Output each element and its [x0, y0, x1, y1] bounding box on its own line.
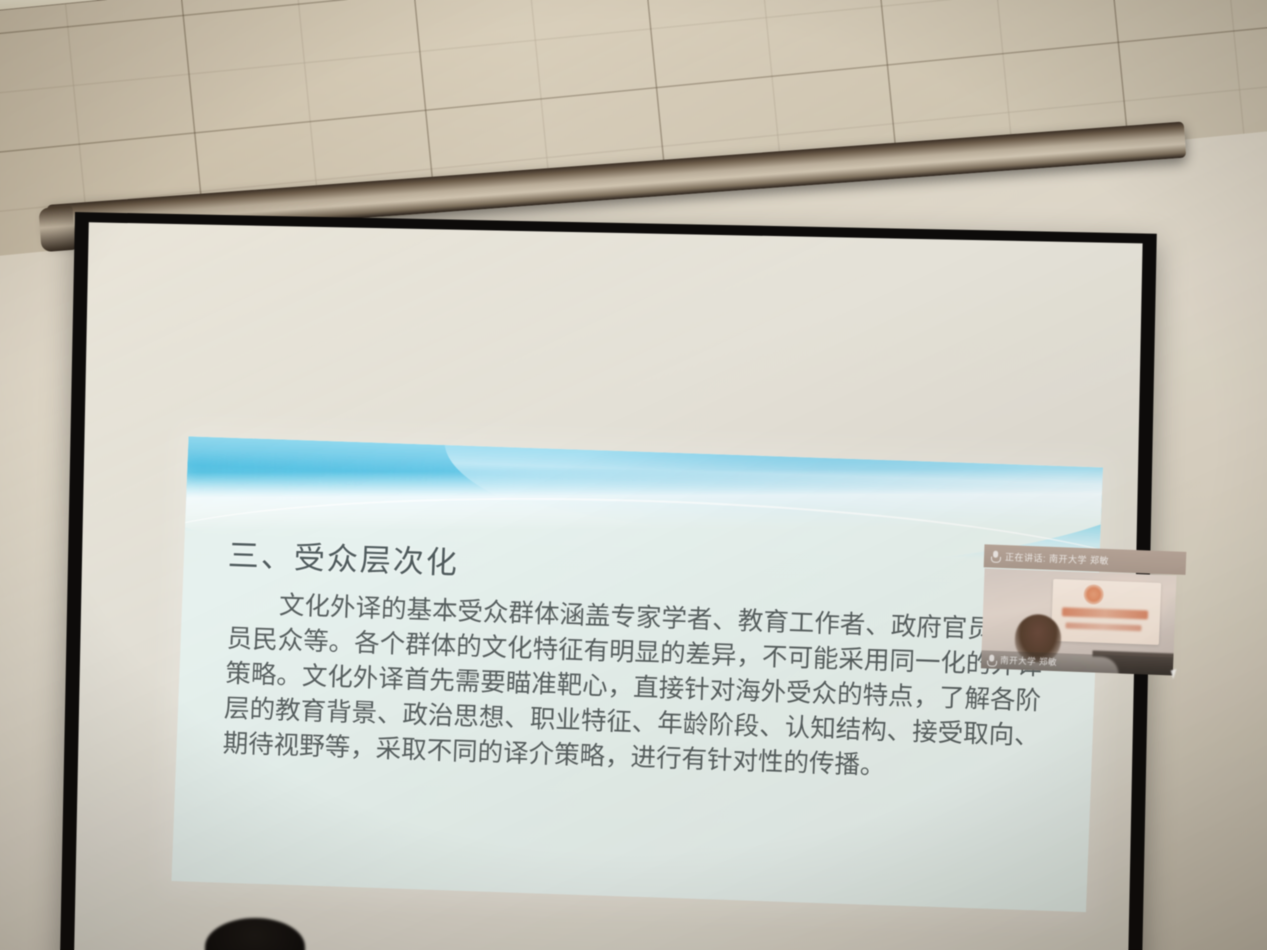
mouse-cursor-icon [1171, 669, 1179, 679]
microphone-icon [987, 654, 995, 665]
roller-end-cap [38, 206, 75, 252]
active-speaker-label: 正在讲话: 南开大学 郑敏 [1005, 550, 1109, 567]
photo-scene: 三、受众层次化 文化外译的基本受众群体涵盖专家学者、教育工作者、政府官员、职员民… [0, 0, 1267, 950]
microphone-icon [991, 551, 999, 562]
participant-name-label: 南开大学 郑敏 [1000, 654, 1057, 668]
projection-screen-assembly: 三、受众层次化 文化外译的基本受众群体涵盖专家学者、教育工作者、政府官员、职员民… [40, 150, 1200, 950]
ceiling-light-fixture [0, 0, 330, 14]
slide-title: 三、受众层次化 [227, 530, 460, 583]
screen-frame: 三、受众层次化 文化外译的基本受众群体涵盖专家学者、教育工作者、政府官员、职员民… [59, 212, 1157, 950]
participant-video-feed[interactable]: 南开大学 郑敏 [981, 568, 1177, 675]
video-conference-thumbnail[interactable]: 正在讲话: 南开大学 郑敏 南开大学 郑敏 [980, 544, 1187, 679]
screen-matte-surface: 三、受众层次化 文化外译的基本受众群体涵盖专家学者、教育工作者、政府官员、职员民… [74, 222, 1143, 950]
projected-slide: 三、受众层次化 文化外译的基本受众群体涵盖专家学者、教育工作者、政府官员、职员民… [171, 436, 1103, 912]
slide-body-text: 文化外译的基本受众群体涵盖专家学者、教育工作者、政府官员、职员民众等。各个群体的… [222, 586, 1044, 789]
